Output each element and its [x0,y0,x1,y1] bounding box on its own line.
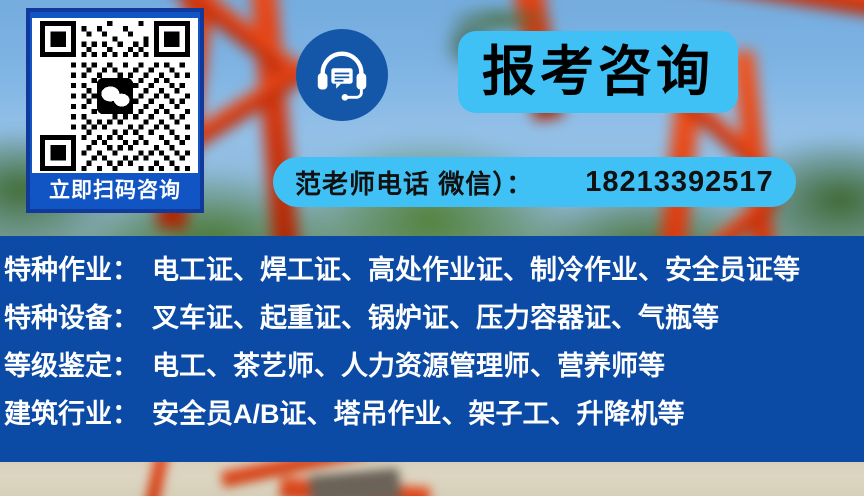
info-row-items: 安全员A/B证、塔吊作业、架子工、升降机等 [152,392,685,431]
crane-beam [142,462,171,496]
phone-bar[interactable]: 范老师电话 微信）： 18213392517 [273,157,796,207]
headset-support-icon [311,44,373,106]
promo-poster: 立即扫码咨询 报考咨询 范老师电话 微信）： 18213392517 特种作业：… [0,0,864,496]
equipment-shadow [309,468,401,496]
info-row-category: 等级鉴定： [4,344,152,383]
info-row-items: 叉车证、起重证、锅炉证、压力容器证、气瓶等 [152,296,719,335]
headset-support-badge[interactable] [296,29,388,121]
crane-beam [580,0,864,22]
info-row: 特种作业： 电工证、焊工证、高处作业证、制冷作业、安全员证等 [4,248,864,296]
bottom-photo-strip [0,462,864,496]
info-row-items: 电工、茶艺师、人力资源管理师、营养师等 [152,344,665,383]
info-row: 特种设备： 叉车证、起重证、锅炉证、压力容器证、气瓶等 [4,296,864,344]
info-row: 等级鉴定： 电工、茶艺师、人力资源管理师、营养师等 [4,344,864,392]
info-row-items: 电工证、焊工证、高处作业证、制冷作业、安全员证等 [152,248,800,287]
info-row-category: 特种设备： [4,296,152,335]
phone-number[interactable]: 18213392517 [585,166,773,199]
qr-caption: 立即扫码咨询 [49,173,181,209]
qr-code-image[interactable] [32,18,198,173]
title-badge: 报考咨询 [458,31,738,113]
title-badge-text: 报考咨询 [482,45,714,99]
info-panel: 特种作业： 电工证、焊工证、高处作业证、制冷作业、安全员证等 特种设备： 叉车证… [0,236,864,462]
info-row-category: 特种作业： [4,248,152,287]
qr-code-card[interactable]: 立即扫码咨询 [26,8,204,213]
info-row-category: 建筑行业： [4,392,152,431]
qr-code-icon [40,21,190,171]
phone-label: 范老师电话 微信）： [295,164,533,201]
info-row: 建筑行业： 安全员A/B证、塔吊作业、架子工、升降机等 [4,392,864,440]
